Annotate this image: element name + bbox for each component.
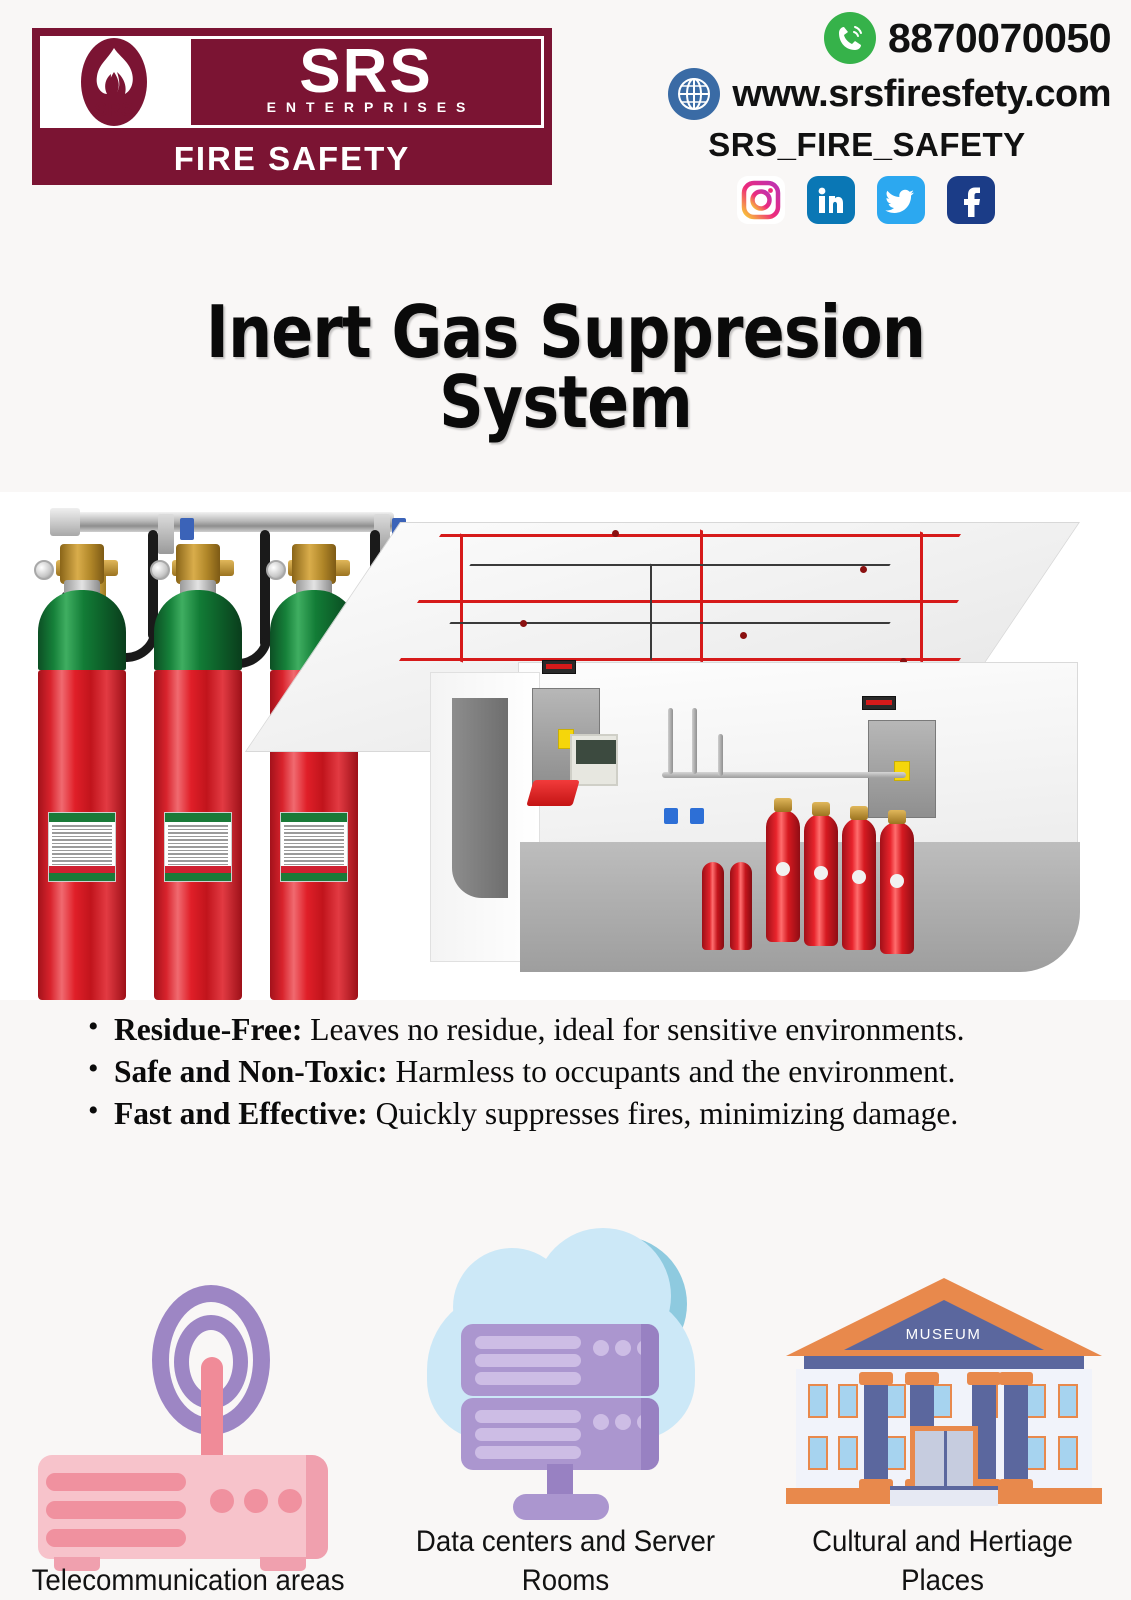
facebook-icon[interactable] — [947, 176, 995, 224]
benefits-list: Residue-Free: Leaves no residue, ideal f… — [0, 1010, 1131, 1136]
museum-sign-label: MUSEUM — [786, 1326, 1102, 1343]
router-antenna-icon — [24, 1271, 354, 1561]
suppression-system-room-diagram — [400, 512, 1100, 972]
cylinder-label — [280, 812, 348, 882]
manual-release-box — [526, 780, 579, 806]
page-title-line2: System — [79, 368, 1052, 438]
benefit-text: Leaves no residue, ideal for sensitive e… — [302, 1012, 964, 1047]
use-case-cultural-heritage: MUSEUM — [754, 1232, 1131, 1600]
benefit-lead: Fast and Effective: — [114, 1096, 368, 1131]
logo-tagline-bar: FIRE SAFETY — [34, 134, 550, 183]
logo-subtitle: ENTERPRISES — [257, 99, 476, 115]
flame-icon: SRS — [40, 36, 188, 128]
control-panel — [570, 734, 618, 786]
instagram-icon[interactable] — [737, 176, 785, 224]
website-url[interactable]: www.srsfiresfety.com — [732, 73, 1111, 116]
social-links — [631, 176, 1111, 224]
use-case-caption: Data centers and Server Rooms — [392, 1522, 739, 1600]
cylinder-label — [48, 812, 116, 882]
header: SRS SRS ENTERPRISES FIRE SAFETY 88700700… — [0, 0, 1131, 282]
website-row[interactable]: www.srsfiresfety.com — [631, 68, 1111, 120]
svg-text:SRS: SRS — [94, 100, 133, 121]
benefit-text: Quickly suppresses fires, minimizing dam… — [368, 1096, 959, 1131]
benefit-text: Harmless to occupants and the environmen… — [388, 1054, 956, 1089]
company-logo[interactable]: SRS SRS ENTERPRISES FIRE SAFETY — [32, 28, 552, 185]
social-handle: SRS_FIRE_SAFETY — [631, 126, 1111, 164]
phone-row[interactable]: 8870070050 — [631, 12, 1111, 64]
phone-icon — [824, 12, 876, 64]
use-case-telecommunication: Telecommunication areas — [0, 1271, 377, 1600]
logo-top-row: SRS SRS ENTERPRISES — [34, 30, 550, 134]
logo-wordmark: SRS ENTERPRISES — [188, 36, 544, 128]
use-case-data-centers: Data centers and Server Rooms — [377, 1232, 754, 1600]
museum-building-icon: MUSEUM — [778, 1232, 1108, 1522]
benefit-item: Fast and Effective: Quickly suppresses f… — [80, 1094, 1071, 1134]
logo-name: SRS — [299, 47, 432, 98]
page-title-line1: Inert Gas Suppresion — [79, 298, 1052, 368]
cylinder-label — [164, 812, 232, 882]
product-image-band — [0, 492, 1131, 1000]
cloud-server-rack-icon — [401, 1232, 731, 1522]
page-title: Inert Gas Suppresion System — [79, 298, 1052, 438]
benefit-item: Safe and Non-Toxic: Harmless to occupant… — [80, 1052, 1071, 1092]
contact-block: 8870070050 www.srsfiresfety.com SRS_FIRE… — [631, 12, 1111, 224]
logo-tagline: FIRE SAFETY — [174, 140, 411, 178]
globe-icon — [668, 68, 720, 120]
benefit-item: Residue-Free: Leaves no residue, ideal f… — [80, 1010, 1071, 1050]
use-case-caption: Telecommunication areas — [32, 1561, 345, 1600]
use-cases-row: Telecommunication areas — [0, 1185, 1131, 1600]
twitter-icon[interactable] — [877, 176, 925, 224]
linkedin-icon[interactable] — [807, 176, 855, 224]
phone-number[interactable]: 8870070050 — [888, 15, 1111, 62]
use-case-caption: Cultural and Hertiage Places — [769, 1522, 1116, 1600]
benefit-lead: Safe and Non-Toxic: — [114, 1054, 388, 1089]
benefit-lead: Residue-Free: — [114, 1012, 302, 1047]
